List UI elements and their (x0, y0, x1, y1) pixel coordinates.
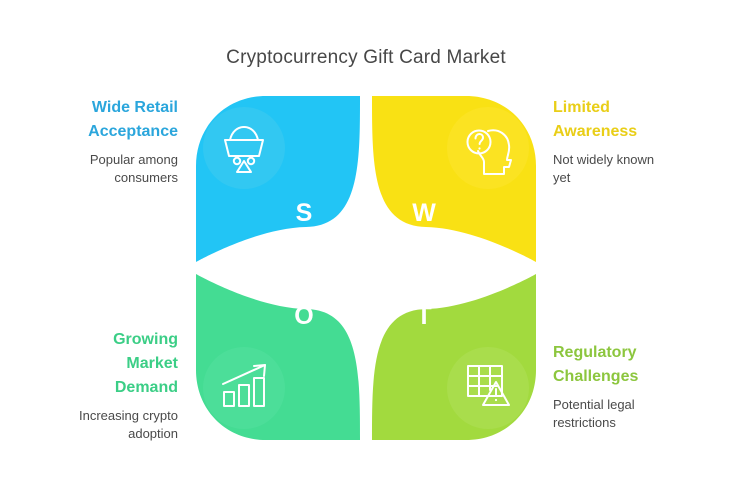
swot-petals-svg: S W (196, 96, 536, 440)
label-description-threats-line2: restrictions (553, 415, 616, 430)
label-description-threats: Potential legal restrictions (553, 396, 703, 433)
label-description-strengths-line2: consumers (114, 170, 178, 185)
page-title: Cryptocurrency Gift Card Market (0, 47, 732, 69)
label-description-weaknesses-line1: Not widely known (553, 152, 654, 167)
quadrant-threats[interactable]: T (372, 274, 536, 440)
letter-weaknesses: W (412, 199, 436, 227)
label-description-opportunities: Increasing crypto adoption (28, 407, 178, 444)
swot-diagram-canvas: Cryptocurrency Gift Card Market S (0, 0, 732, 498)
label-group-threats: Regulatory Challenges Potential legal re… (553, 341, 703, 433)
label-heading-weaknesses-line1: Limited (553, 99, 610, 116)
label-group-opportunities: Growing Market Demand Increasing crypto … (28, 328, 178, 444)
label-heading-threats-line2: Challenges (553, 368, 638, 385)
quadrant-opportunities[interactable]: O (196, 274, 360, 440)
label-description-strengths: Popular among consumers (28, 151, 178, 188)
letter-opportunities: O (294, 302, 313, 330)
label-heading-strengths: Wide Retail Acceptance (28, 96, 178, 144)
label-description-strengths-line1: Popular among (90, 152, 178, 167)
label-heading-threats-line1: Regulatory (553, 344, 637, 361)
label-group-weaknesses: Limited Awareness Not widely known yet (553, 96, 703, 188)
label-heading-opportunities-line2: Market (126, 355, 178, 372)
label-description-weaknesses-line2: yet (553, 170, 570, 185)
label-description-opportunities-line2: adoption (128, 426, 178, 441)
swot-petal-group: S W (196, 96, 536, 440)
quadrant-weaknesses[interactable]: W (372, 96, 536, 262)
letter-threats: T (416, 302, 431, 330)
label-description-opportunities-line1: Increasing crypto (79, 408, 178, 423)
label-group-strengths: Wide Retail Acceptance Popular among con… (28, 96, 178, 188)
quadrant-strengths[interactable]: S (196, 96, 360, 262)
label-heading-strengths-line1: Wide Retail (92, 99, 178, 116)
label-description-threats-line1: Potential legal (553, 397, 635, 412)
label-heading-threats: Regulatory Challenges (553, 341, 703, 389)
label-heading-strengths-line2: Acceptance (88, 123, 178, 140)
label-heading-opportunities: Growing Market Demand (28, 328, 178, 400)
badge-circle-strengths (203, 107, 285, 189)
label-heading-opportunities-line1: Growing (113, 331, 178, 348)
label-description-weaknesses: Not widely known yet (553, 151, 703, 188)
badge-circle-opportunities (203, 347, 285, 429)
letter-strengths: S (296, 199, 313, 227)
badge-circle-threats (447, 347, 529, 429)
label-heading-weaknesses-line2: Awareness (553, 123, 637, 140)
label-heading-weaknesses: Limited Awareness (553, 96, 703, 144)
label-heading-opportunities-line3: Demand (115, 379, 178, 396)
